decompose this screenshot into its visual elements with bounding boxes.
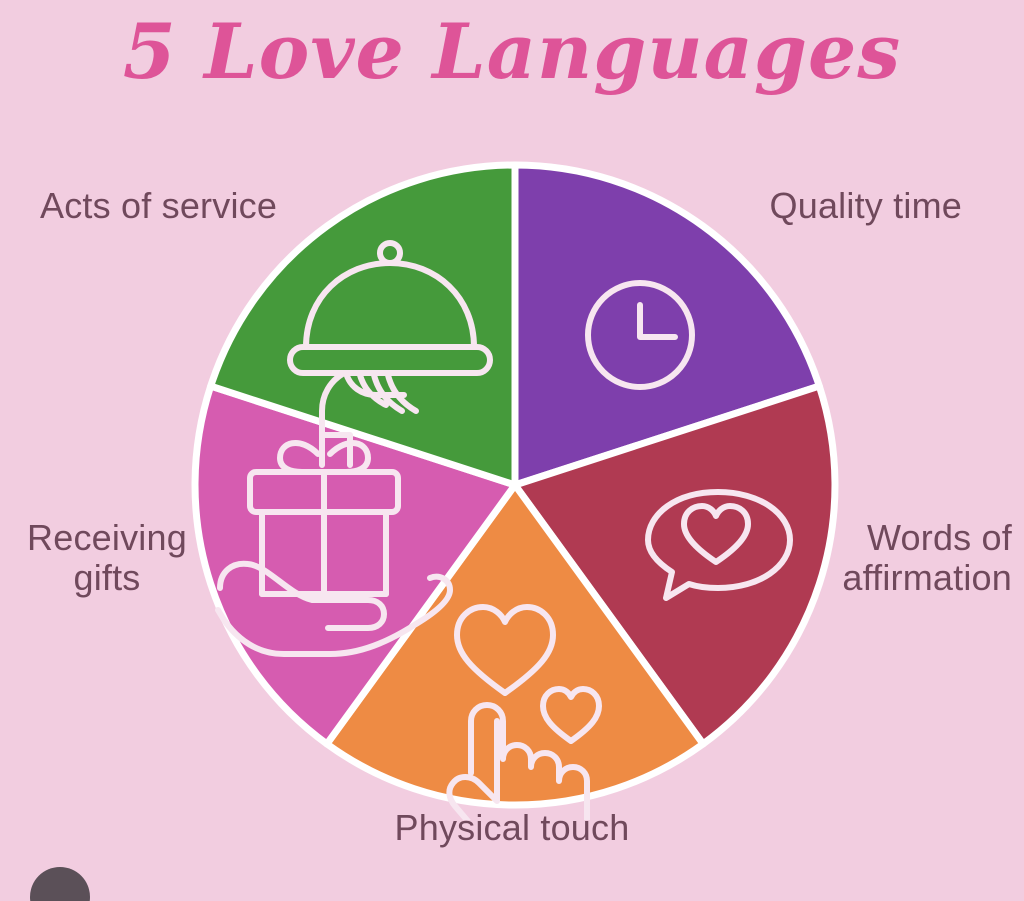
slice-label-receiving-gifts-line2: gifts [12,558,202,598]
slice-label-physical-touch-text: Physical touch [395,807,630,848]
slice-label-words-of-affirmation-line2: affirmation [842,558,1012,598]
slice-label-words-of-affirmation: Words of affirmation [842,518,1012,599]
slide-canvas: 5 Love Languages [0,0,1024,901]
pie-chart [190,150,840,820]
avatar[interactable] [30,867,90,901]
pie-slices [195,165,835,805]
slice-label-acts-of-service: Acts of service [40,186,277,226]
pie-chart-svg [190,150,840,820]
slice-label-receiving-gifts: Receiving gifts [12,518,202,599]
slice-label-words-of-affirmation-line1: Words of [842,518,1012,558]
slice-label-receiving-gifts-line1: Receiving [12,518,202,558]
slice-label-quality-time-text: Quality time [770,185,962,226]
slice-label-quality-time: Quality time [770,186,962,226]
page-title: 5 Love Languages [0,8,1024,95]
slice-label-acts-of-service-text: Acts of service [40,185,277,226]
slice-label-physical-touch: Physical touch [0,808,1024,848]
